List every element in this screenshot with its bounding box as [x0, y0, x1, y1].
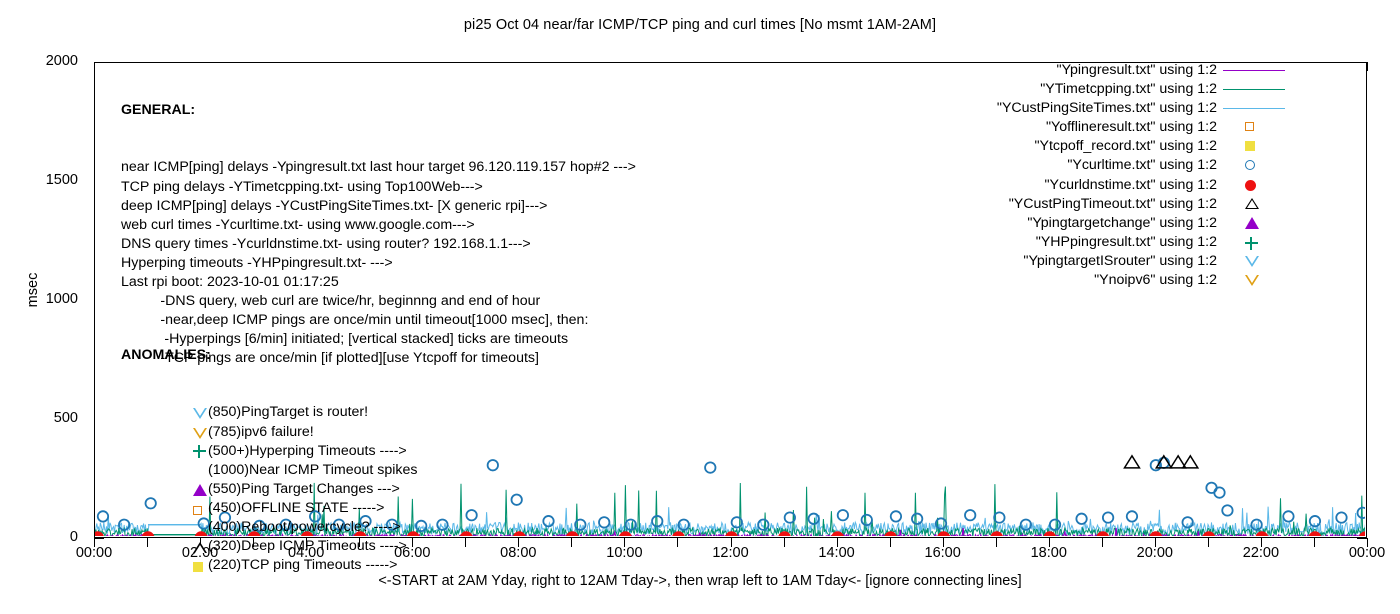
legend-entry[interactable]: "Ytcpoff_record.txt" using 1:2 — [985, 137, 1295, 156]
anomaly-item: (550)Ping Target Changes ---> — [121, 480, 417, 499]
legend-entry[interactable]: "YTimetcpping.txt" using 1:2 — [985, 80, 1295, 99]
anomaly-item: (320)Deep ICMP Timeouts ----> — [121, 537, 417, 556]
y-tick-label: 1000 — [0, 291, 78, 307]
legend-entry[interactable]: "Ypingresult.txt" using 1:2 — [985, 61, 1295, 80]
anomaly-label: (400)Reboot/powercycle? ----> — [208, 519, 401, 535]
legend-symbol — [1223, 195, 1285, 214]
general-line: deep ICMP[ping] delays -YCustPingSiteTim… — [121, 197, 636, 216]
general-line: near ICMP[ping] delays -Ypingresult.txt … — [121, 158, 636, 177]
anomaly-item: (785)ipv6 failure! — [121, 423, 417, 442]
anomaly-label: (220)TCP ping Timeouts -----> — [208, 557, 397, 573]
dtri-b-marker-icon — [1245, 256, 1259, 267]
legend-symbol — [1223, 80, 1285, 99]
anomaly-item: (850)PingTarget is router! — [121, 403, 417, 422]
legend-symbol — [1223, 156, 1285, 175]
y-tick-label: 1500 — [0, 172, 78, 188]
general-line: web curl times -Ycurltime.txt- using www… — [121, 216, 636, 235]
legend-symbol — [1223, 233, 1285, 252]
y-tick — [94, 538, 104, 539]
anomaly-item: (500+)Hyperping Timeouts ----> — [121, 442, 417, 461]
legend-symbol — [1223, 271, 1285, 290]
x-tick — [1314, 538, 1315, 547]
dtri-o-marker-icon — [193, 428, 207, 439]
anomaly-label: (500+)Hyperping Timeouts ----> — [208, 443, 407, 459]
anomaly-item: (1000)Near ICMP Timeout spikes — [121, 461, 417, 480]
x-tick-label: 18:00 — [1004, 545, 1094, 561]
x-tick — [1208, 538, 1209, 547]
legend-label: "YHPpingresult.txt" using 1:2 — [1036, 234, 1217, 250]
anomalies-list: (850)PingTarget is router!(785)ipv6 fail… — [121, 403, 417, 575]
dtri-o-marker-icon — [1245, 275, 1259, 286]
x-tick — [996, 538, 997, 547]
x-tick-label: 12:00 — [686, 545, 776, 561]
legend-line-swatch — [1223, 70, 1285, 71]
anomaly-label: (785)ipv6 failure! — [208, 424, 314, 440]
x-tick — [890, 538, 891, 547]
y-tick-label: 0 — [0, 529, 78, 545]
chart-legend: "Ypingresult.txt" using 1:2"YTimetcpping… — [985, 61, 1295, 290]
x-tick — [1102, 538, 1103, 547]
legend-symbol — [1223, 176, 1285, 195]
anomaly-label: (1000)Near ICMP Timeout spikes — [208, 462, 417, 478]
chart-page: pi25 Oct 04 near/far ICMP/TCP ping and c… — [0, 0, 1400, 600]
legend-label: "Ynoipv6" using 1:2 — [1094, 272, 1217, 288]
sq-o-marker-icon — [1245, 122, 1254, 131]
x-tick-label: 14:00 — [792, 545, 882, 561]
legend-entry[interactable]: "Ycurldnstime.txt" using 1:2 — [985, 176, 1295, 195]
legend-label: "YTimetcpping.txt" using 1:2 — [1040, 81, 1217, 97]
x-tick-label: 22:00 — [1216, 545, 1306, 561]
plus-marker-icon — [1245, 237, 1258, 250]
legend-symbol — [1223, 61, 1285, 80]
x-tick-label: 16:00 — [898, 545, 988, 561]
x-tick-label: 10:00 — [579, 545, 669, 561]
dtri-b-marker-icon — [193, 408, 207, 419]
x-tick-label: 20:00 — [1110, 545, 1200, 561]
legend-label: "Ypingtargetchange" using 1:2 — [1027, 215, 1217, 231]
legend-entry[interactable]: "YCustPingTimeout.txt" using 1:2 — [985, 195, 1295, 214]
anomalies-notes: ANOMALIES: (850)PingTarget is router!(78… — [121, 308, 417, 614]
ci-f-marker-icon — [1245, 180, 1256, 191]
general-line: Hyperping timeouts -YHPpingresult.txt- -… — [121, 254, 636, 273]
general-line: Last rpi boot: 2023-10-01 01:17:25 — [121, 273, 636, 292]
legend-line-swatch — [1223, 108, 1285, 109]
anomalies-heading: ANOMALIES: — [121, 346, 417, 365]
legend-symbol — [1223, 137, 1285, 156]
legend-entry[interactable]: "Ynoipv6" using 1:2 — [985, 271, 1295, 290]
legend-label: "YpingtargetISrouter" using 1:2 — [1023, 253, 1217, 269]
anomaly-label: (550)Ping Target Changes ---> — [208, 481, 400, 497]
tri-f-marker-icon — [1245, 217, 1259, 229]
x-axis-title: <-START at 2AM Yday, right to 12AM Tday-… — [0, 573, 1400, 589]
legend-label: "Ypingresult.txt" using 1:2 — [1057, 62, 1217, 78]
ci-o-marker-icon — [1245, 160, 1255, 170]
x-tick — [784, 538, 785, 547]
legend-entry[interactable]: "Ypingtargetchange" using 1:2 — [985, 214, 1295, 233]
y-tick-label: 500 — [0, 410, 78, 426]
legend-entry[interactable]: "YHPpingresult.txt" using 1:2 — [985, 233, 1295, 252]
tri-o-marker-icon — [193, 542, 207, 553]
x-tick-label: 00:00 — [1322, 545, 1400, 561]
legend-label: "Ytcpoff_record.txt" using 1:2 — [1034, 138, 1217, 154]
y-axis-title: msec — [25, 245, 41, 335]
sq-f-marker-icon — [1245, 141, 1255, 151]
legend-symbol — [1223, 252, 1285, 271]
legend-label: "YCustPingSiteTimes.txt" using 1:2 — [997, 100, 1217, 116]
x-tick — [677, 538, 678, 547]
x-tick — [465, 538, 466, 547]
general-line: DNS query times -Ycurldnstime.txt- using… — [121, 235, 636, 254]
sq-f-marker-icon — [193, 562, 203, 572]
legend-entry[interactable]: "YpingtargetISrouter" using 1:2 — [985, 252, 1295, 271]
anomaly-label: (320)Deep ICMP Timeouts ----> — [208, 538, 407, 554]
general-line: TCP ping delays -YTimetcpping.txt- using… — [121, 178, 636, 197]
legend-symbol — [1223, 99, 1285, 118]
legend-entry[interactable]: "Yofflineresult.txt" using 1:2 — [985, 118, 1295, 137]
general-heading: GENERAL: — [121, 101, 636, 120]
tri-f-marker-icon — [193, 484, 207, 496]
legend-label: "Ycurltime.txt" using 1:2 — [1067, 157, 1217, 173]
legend-entry[interactable]: "Ycurltime.txt" using 1:2 — [985, 156, 1295, 175]
legend-symbol — [1223, 118, 1285, 137]
tri-o-marker-icon — [1245, 198, 1259, 209]
legend-line-swatch — [1223, 89, 1285, 90]
legend-label: "Yofflineresult.txt" using 1:2 — [1046, 119, 1217, 135]
chart-title: pi25 Oct 04 near/far ICMP/TCP ping and c… — [0, 17, 1400, 33]
sq-o-marker-icon — [193, 506, 202, 515]
y-tick-label: 2000 — [0, 53, 78, 69]
x-tick — [571, 538, 572, 547]
legend-symbol — [1223, 214, 1285, 233]
anomaly-label: (450)OFFLINE STATE -----> — [208, 500, 384, 516]
legend-entry[interactable]: "YCustPingSiteTimes.txt" using 1:2 — [985, 99, 1295, 118]
anomaly-label: (850)PingTarget is router! — [208, 404, 368, 420]
anomaly-item: (400)Reboot/powercycle? ----> — [121, 518, 417, 537]
y-tick — [1357, 538, 1367, 539]
x-tick-top — [1367, 62, 1368, 71]
plus-marker-icon — [193, 445, 206, 458]
anomaly-item: (450)OFFLINE STATE -----> — [121, 499, 417, 518]
legend-label: "YCustPingTimeout.txt" using 1:2 — [1009, 196, 1217, 212]
x-tick-label: 08:00 — [473, 545, 563, 561]
legend-label: "Ycurldnstime.txt" using 1:2 — [1044, 177, 1217, 193]
